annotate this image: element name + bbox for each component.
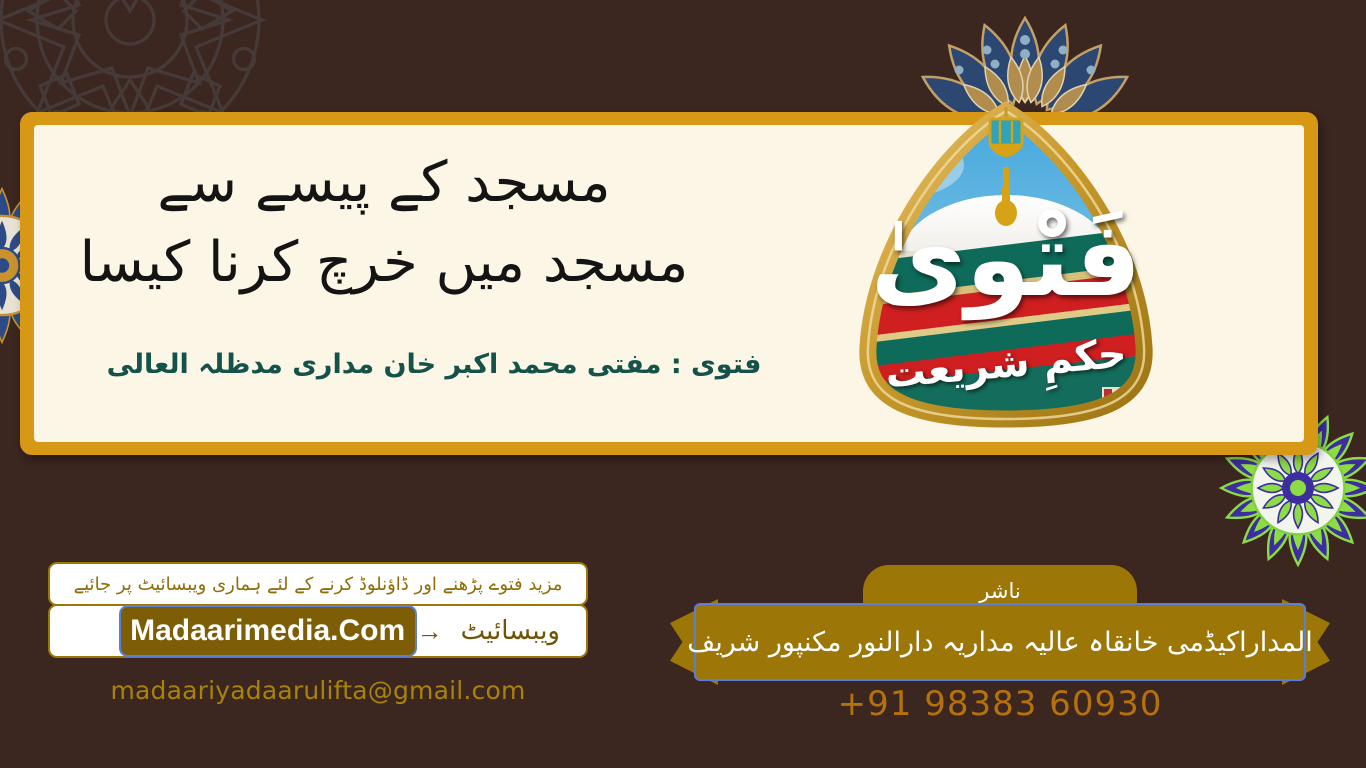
website-label: ویبسائیٹ [461,616,586,646]
page-title: مسجد کے پیسے سے مسجد میں خرچ کرنا کیسا [64,143,704,302]
website-block: مزید فتوے پڑھنے اور ڈاؤنلوڈ کرنے کے لئے … [48,562,588,658]
title-line-2: مسجد میں خرچ کرنا کیسا [64,223,704,303]
poster-canvas: مسجد کے پیسے سے مسجد میں خرچ کرنا کیسا ف… [0,0,1366,768]
website-row[interactable]: ویبسائیٹ → Madaarimedia.Com [48,604,588,658]
shrine-photo-shield-icon [834,95,1178,435]
publisher-cap-label: ناشر [979,579,1020,603]
title-line-1: مسجد کے پیسے سے [64,143,704,223]
website-prompt-text: مزید فتوے پڑھنے اور ڈاؤنلوڈ کرنے کے لئے … [74,574,563,595]
publisher-name-plate: المداراکیڈمی خانقاہ عالیہ مداریہ دارالنو… [694,603,1306,681]
website-prompt-banner: مزید فتوے پڑھنے اور ڈاؤنلوڈ کرنے کے لئے … [48,562,588,606]
mufti-credit: فتوی : مفتی محمد اکبر خان مداری مدظلہ ال… [64,349,804,380]
arrow-right-icon: → [417,616,461,647]
website-domain-button[interactable]: Madaarimedia.Com [119,605,417,657]
publisher-phone[interactable]: +91 98383 60930 [676,684,1324,724]
publisher-name: المداراکیڈمی خانقاہ عالیہ مداریہ دارالنو… [687,627,1312,658]
email-address[interactable]: madaariyadaarulifta@gmail.com [48,676,588,705]
